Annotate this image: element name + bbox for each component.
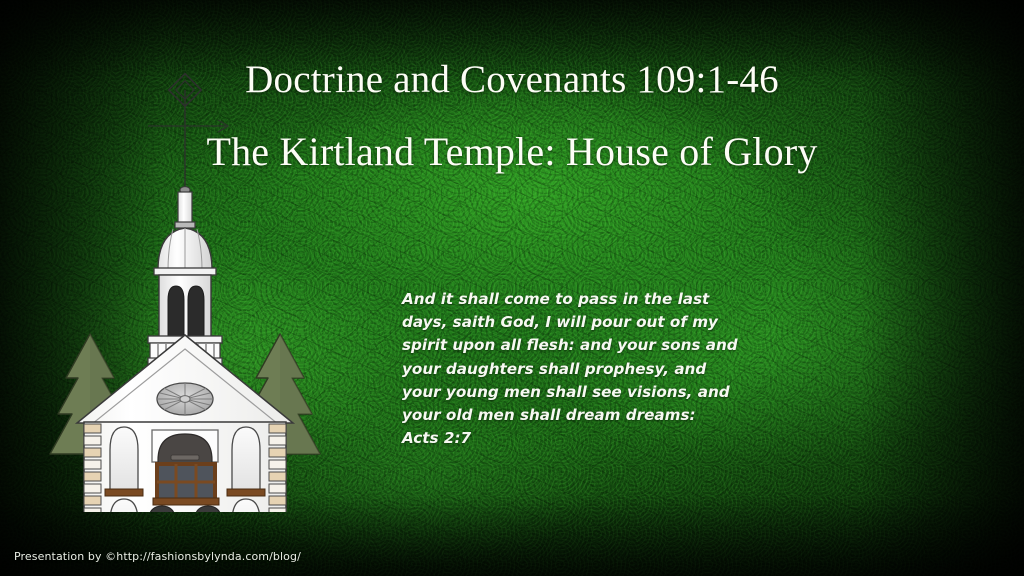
rose-window xyxy=(157,383,213,415)
belfry xyxy=(159,275,211,337)
slide-subtitle: The Kirtland Temple: House of Glory xyxy=(0,132,1024,172)
gothic-window xyxy=(153,434,219,505)
scripture-text: And it shall come to pass in the last da… xyxy=(402,290,738,424)
slide-title: Doctrine and Covenants 109:1-46 xyxy=(0,60,1024,99)
steeple-dome xyxy=(154,228,216,275)
presentation-credit: Presentation by ©http://fashionsbylynda.… xyxy=(14,550,301,563)
presentation-slide: Doctrine and Covenants 109:1-46 The Kirt… xyxy=(0,0,1024,576)
scripture-reference: Acts 2:7 xyxy=(402,427,747,450)
steeple-finial xyxy=(175,187,195,228)
scripture-block: And it shall come to pass in the last da… xyxy=(402,288,747,450)
temple-main-body xyxy=(77,335,293,512)
